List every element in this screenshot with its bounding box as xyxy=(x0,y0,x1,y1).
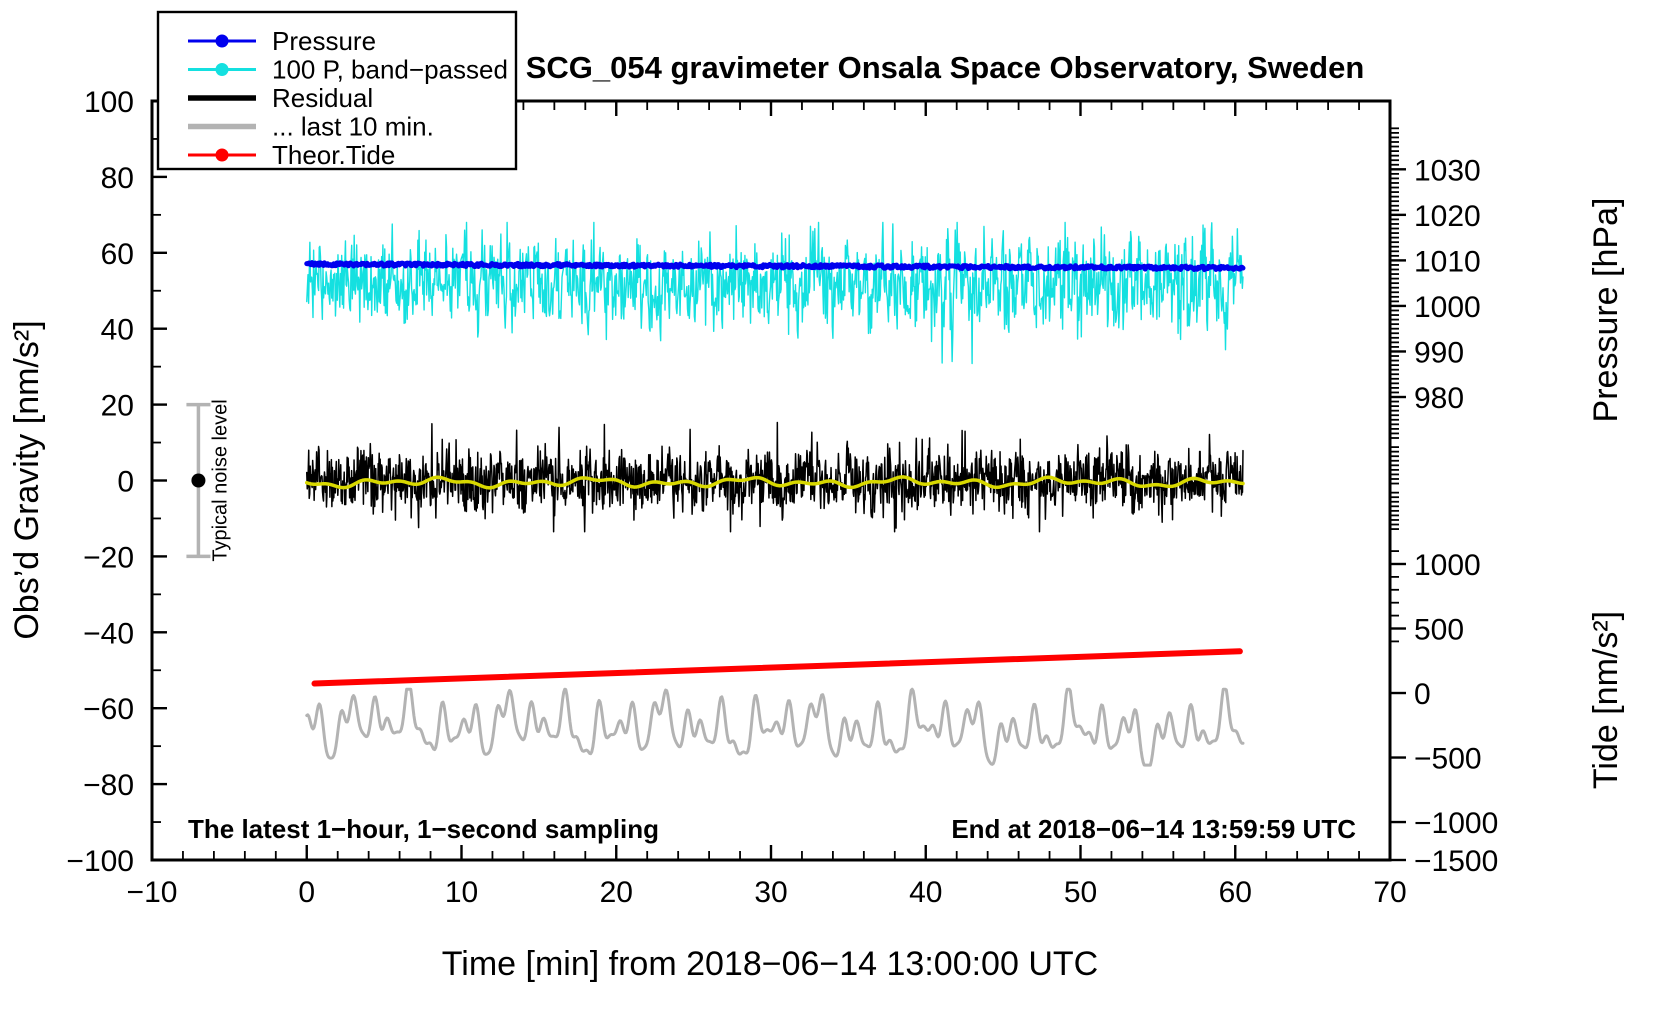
tide-tick-label: 0 xyxy=(1414,678,1431,711)
noise-bar-center-dot xyxy=(191,474,205,488)
y-axis-title-left: Obs’d Gravity [nm/s²] xyxy=(8,320,46,639)
tide-tick-label: −500 xyxy=(1414,743,1482,776)
legend-label: ... last 10 min. xyxy=(272,112,434,142)
y-tick-label: 100 xyxy=(84,86,134,119)
chart-legend[interactable]: Pressure100 P, band−passedResidual... la… xyxy=(158,12,516,170)
y-tick-label: −40 xyxy=(83,617,134,650)
x-tick-label: −10 xyxy=(127,876,178,909)
legend-marker-dot xyxy=(216,149,229,162)
gravimeter-chart: Typical noise level −10010203040506070−1… xyxy=(0,0,1660,1020)
x-tick-label: 60 xyxy=(1219,876,1252,909)
pressure-tick-label: 990 xyxy=(1414,336,1464,369)
chart-page: Typical noise level −10010203040506070−1… xyxy=(0,0,1660,1020)
y-tick-label: 80 xyxy=(101,162,134,195)
x-tick-label: 10 xyxy=(445,876,478,909)
y-tick-label: 20 xyxy=(101,390,134,423)
pressure-tick-label: 1030 xyxy=(1414,154,1481,187)
y-tick-label: 0 xyxy=(117,466,134,499)
legend-marker-dot xyxy=(216,35,229,48)
legend-label: Pressure xyxy=(272,26,376,56)
y-tick-label: 40 xyxy=(101,314,134,347)
legend-label: Residual xyxy=(272,83,373,113)
x-tick-label: 70 xyxy=(1373,876,1406,909)
tide-tick-label: −1000 xyxy=(1414,807,1498,840)
x-tick-label: 0 xyxy=(298,876,315,909)
page-title: SCG_054 gravimeter Onsala Space Observat… xyxy=(526,50,1365,85)
tide-tick-label: −1500 xyxy=(1414,845,1498,878)
noise-bar-label: Typical noise level xyxy=(209,399,231,561)
pressure-tick-label: 980 xyxy=(1414,382,1464,415)
x-tick-label: 40 xyxy=(909,876,942,909)
pressure-tick-label: 1000 xyxy=(1414,291,1481,324)
y-tick-label: −80 xyxy=(83,769,134,802)
x-tick-label: 50 xyxy=(1064,876,1097,909)
y-tick-label: −60 xyxy=(83,693,134,726)
y-tick-label: −20 xyxy=(83,541,134,574)
legend-marker-dot xyxy=(216,63,229,76)
tide-tick-label: 1000 xyxy=(1414,549,1481,582)
tide-tick-label: 500 xyxy=(1414,614,1464,647)
end-time-note: End at 2018−06−14 13:59:59 UTC xyxy=(951,814,1356,844)
y-axis-title-pressure: Pressure [hPa] xyxy=(1587,198,1625,423)
y-tick-label: −100 xyxy=(66,845,134,878)
pressure-tick-label: 1010 xyxy=(1414,245,1481,278)
legend-label: Theor.Tide xyxy=(272,140,395,170)
pressure-tick-label: 1020 xyxy=(1414,200,1481,233)
y-tick-label: 60 xyxy=(101,238,134,271)
sampling-note: The latest 1−hour, 1−second sampling xyxy=(188,814,659,844)
legend-label: 100 P, band−passed xyxy=(272,55,508,85)
x-axis-title: Time [min] from 2018−06−14 13:00:00 UTC xyxy=(442,945,1098,983)
x-tick-label: 30 xyxy=(754,876,787,909)
x-tick-label: 20 xyxy=(600,876,633,909)
y-axis-title-tide: Tide [nm/s²] xyxy=(1587,611,1625,789)
